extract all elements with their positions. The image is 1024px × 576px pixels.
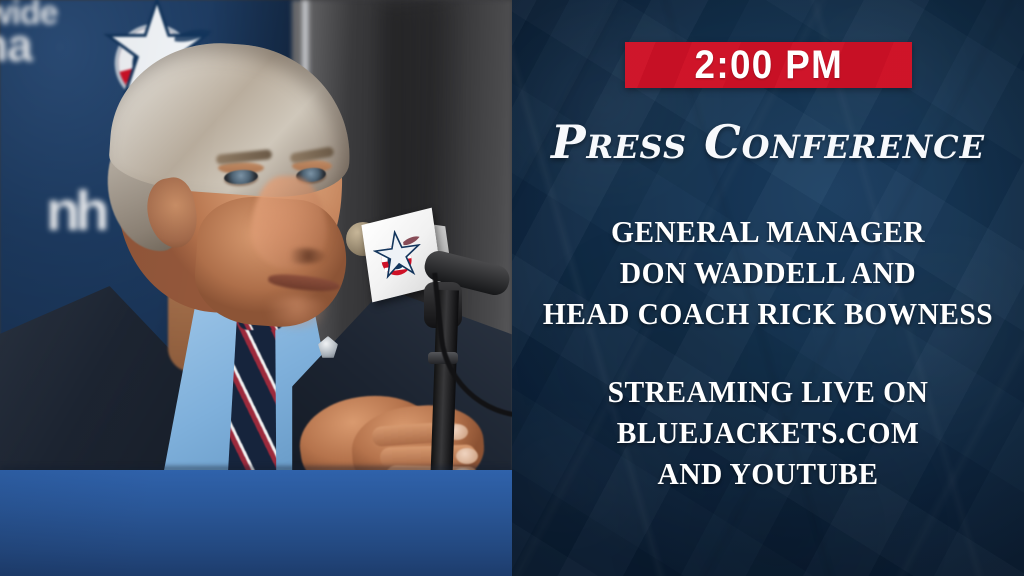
streaming-line-3: AND YOUTUBE xyxy=(525,454,1011,495)
press-conference-photo: wide na nh N xyxy=(0,0,512,576)
streaming-block: STREAMING LIVE ON BLUEJACKETS.COM AND YO… xyxy=(525,372,1011,495)
participant-line-1: GENERAL MANAGER xyxy=(525,212,1011,253)
streaming-line-1: STREAMING LIVE ON xyxy=(525,372,1011,413)
participant-line-3: HEAD COACH RICK BOWNESS xyxy=(525,294,1011,335)
table-skirt xyxy=(0,470,512,576)
participant-line-2: DON WADDELL AND xyxy=(525,253,1011,294)
streaming-line-2: BLUEJACKETS.COM xyxy=(525,413,1011,454)
info-panel: 2:00 PM Press Conference GENERAL MANAGER… xyxy=(512,0,1024,576)
time-badge: 2:00 PM xyxy=(625,42,912,88)
panel-content: 2:00 PM Press Conference GENERAL MANAGER… xyxy=(512,0,1024,576)
nostril xyxy=(282,248,326,264)
participants-block: GENERAL MANAGER DON WADDELL AND HEAD COA… xyxy=(525,212,1011,335)
chin xyxy=(260,296,334,328)
fingernail xyxy=(456,448,478,464)
blue-jackets-logo-mic-flag xyxy=(371,227,426,285)
time-badge-label: 2:00 PM xyxy=(694,45,843,85)
page-title: Press Conference xyxy=(512,119,1024,165)
press-conference-graphic: wide na nh N xyxy=(0,0,1024,576)
